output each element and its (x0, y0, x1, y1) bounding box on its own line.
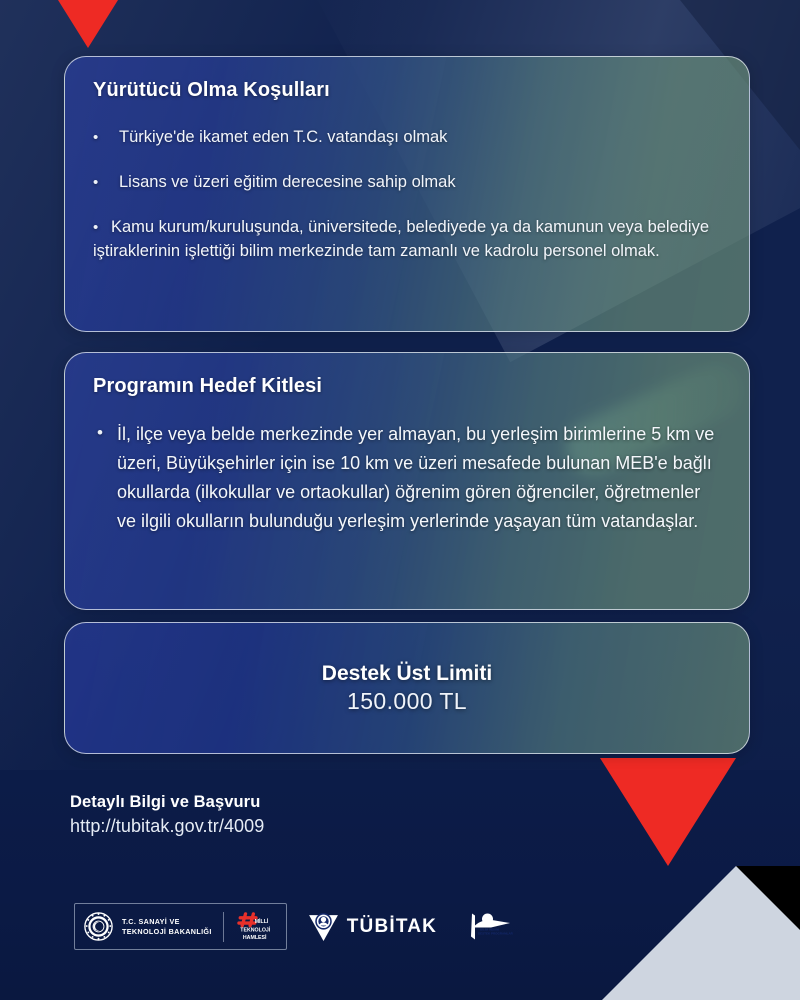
bullet-glyph: • (93, 217, 111, 239)
poster-canvas: Yürütücü Olma Koşulları •Türkiye'de ikam… (0, 0, 800, 1000)
footer-url-link[interactable]: http://tubitak.gov.tr/4009 (70, 816, 264, 837)
card-support-limit: Destek Üst Limiti 150.000 TL (64, 622, 750, 754)
campaign-line-3: HAMLESİ (243, 933, 267, 940)
support-limit-value: 150.000 TL (347, 688, 467, 715)
list-item-text: Türkiye'de ikamet eden T.C. vatandaşı ol… (119, 128, 447, 146)
audience-title: Programın Hedef Kitlesi (93, 375, 721, 398)
card-audience: Programın Hedef Kitlesi İl, ilçe veya be… (64, 352, 750, 610)
bidep-line-2: DESTEK PROGRAMLARI (478, 932, 513, 936)
conditions-title: Yürütücü Olma Koşulları (93, 79, 721, 102)
footer-label: Detaylı Bilgi ve Başvuru (70, 793, 264, 812)
bullet-glyph: • (93, 127, 119, 149)
support-limit-title: Destek Üst Limiti (322, 662, 492, 686)
tubitak-wordmark: TÜBİTAK (347, 916, 437, 938)
top-left-red-triangle-icon (58, 0, 118, 48)
list-item: İl, ilçe veya belde merkezinde yer almay… (93, 420, 721, 537)
campaign-line-2: TEKNOLOJİ (240, 926, 271, 933)
footer-contact-block: Detaylı Bilgi ve Başvuru http://tubitak.… (70, 793, 264, 837)
ministry-wordmark: T.C. SANAYİ VE TEKNOLOJİ BAKANLIĞI (122, 917, 212, 936)
list-item: •Lisans ve üzeri eğitim derecesine sahip… (93, 171, 721, 195)
bidep-line-1: BİLİM İNSANI (480, 927, 499, 932)
logo-ministry-of-industry-and-technology: T.C. SANAYİ VE TEKNOLOJİ BAKANLIĞI MİLLİ… (74, 903, 287, 950)
ministry-line-2: TEKNOLOJİ BAKANLIĞI (122, 927, 212, 937)
ministry-line-1: T.C. SANAYİ VE (122, 917, 212, 927)
list-item-text: Lisans ve üzeri eğitim derecesine sahip … (119, 173, 456, 191)
card-conditions: Yürütücü Olma Koşulları •Türkiye'de ikam… (64, 56, 750, 332)
turkey-ministry-seal-icon (84, 912, 113, 941)
list-item: •Kamu kurum/kuruluşunda, üniversitede, b… (93, 216, 721, 264)
bottom-right-corner-decoration (570, 750, 800, 1000)
bidep-flag-figure-icon: BİLİM İNSANI DESTEK PROGRAMLARI (465, 910, 513, 943)
logo-tubitak: TÜBİTAK (307, 910, 437, 943)
bottom-right-red-triangle-icon (600, 758, 736, 866)
tubitak-chevron-mark-icon (307, 910, 340, 943)
list-item-text: Kamu kurum/kuruluşunda, üniversitede, be… (93, 218, 709, 260)
list-item: •Türkiye'de ikamet eden T.C. vatandaşı o… (93, 126, 721, 150)
logo-strip: T.C. SANAYİ VE TEKNOLOJİ BAKANLIĞI MİLLİ… (74, 903, 513, 950)
conditions-list: •Türkiye'de ikamet eden T.C. vatandaşı o… (93, 126, 721, 264)
milli-teknoloji-hamlesi-icon: MİLLİ TEKNOLOJİ HAMLESİ (235, 911, 277, 943)
audience-list: İl, ilçe veya belde merkezinde yer almay… (93, 420, 721, 537)
logo-divider (223, 912, 224, 942)
campaign-line-1: MİLLİ (254, 918, 268, 925)
bullet-glyph: • (93, 172, 119, 194)
